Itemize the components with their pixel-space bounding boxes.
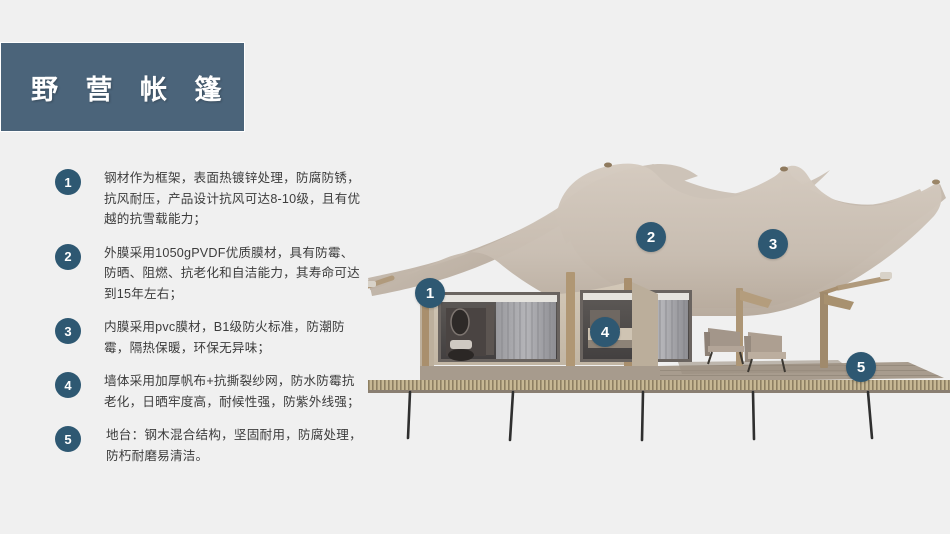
deck-fascia-shadow <box>368 390 950 393</box>
list-item: 1 钢材作为框架，表面热镀锌处理，防腐防锈，抗风耐压，产品设计抗风可达8-10级… <box>55 168 365 230</box>
feature-text-5: 地台：钢木混合结构，坚固耐用，防腐处理，防朽耐磨易清洁。 <box>104 425 364 466</box>
photo-badge-5[interactable]: 5 <box>846 352 876 382</box>
photo-badge-2[interactable]: 2 <box>636 222 666 252</box>
feature-badge-5: 5 <box>55 426 81 452</box>
deck-surface-front <box>420 366 660 382</box>
feature-list: 1 钢材作为框架，表面热镀锌处理，防腐防锈，抗风耐压，产品设计抗风可达8-10级… <box>55 168 365 479</box>
side-return-wall <box>632 282 658 368</box>
center-post <box>566 272 575 368</box>
post-brace-2 <box>824 294 854 310</box>
list-item: 2 外膜采用1050gPVDF优质膜材，具有防霉、防晒、阻燃、抗老化和自洁能力，… <box>55 243 365 305</box>
tent-illustration: 青湘营居 <box>368 150 950 450</box>
deck-stilts <box>408 392 872 440</box>
feature-text-2: 外膜采用1050gPVDF优质膜材，具有防霉、防晒、阻燃、抗老化和自洁能力，其寿… <box>104 243 362 305</box>
title-banner: 野 营 帐 篷 <box>0 42 245 132</box>
peak-tip-3 <box>932 180 940 185</box>
feature-badge-2: 2 <box>55 244 81 270</box>
feature-badge-1: 1 <box>55 169 81 195</box>
list-item: 5 地台：钢木混合结构，坚固耐用，防腐处理，防朽耐磨易清洁。 <box>55 425 365 466</box>
feature-text-1: 钢材作为框架，表面热镀锌处理，防腐防锈，抗风耐压，产品设计抗风可达8-10级，且… <box>104 168 362 230</box>
window-bathroom <box>438 292 560 362</box>
list-item: 4 墙体采用加厚帆布+抗撕裂纱网，防水防霉抗老化，日晒牢度高，耐候性强，防紫外线… <box>55 371 365 412</box>
photo-badge-4[interactable]: 4 <box>590 317 620 347</box>
photo-badge-3[interactable]: 3 <box>758 229 788 259</box>
slide-root: 野 营 帐 篷 1 钢材作为框架，表面热镀锌处理，防腐防锈，抗风耐压，产品设计抗… <box>0 0 950 534</box>
peak-tip-2 <box>780 167 788 172</box>
tent-graphic <box>368 150 950 450</box>
feature-text-4: 墙体采用加厚帆布+抗撕裂纱网，防水防霉抗老化，日晒牢度高，耐候性强，防紫外线强； <box>104 371 362 412</box>
peak-tip-1 <box>604 163 612 168</box>
feature-badge-4: 4 <box>55 372 81 398</box>
list-item: 3 内膜采用pvc膜材，B1级防火标准，防潮防霉，隔热保暖，环保无异味； <box>55 317 365 358</box>
page-title: 野 营 帐 篷 <box>31 68 232 107</box>
feature-text-3: 内膜采用pvc膜材，B1级防火标准，防潮防霉，隔热保暖，环保无异味； <box>104 317 362 358</box>
feature-badge-3: 3 <box>55 318 81 344</box>
photo-badge-1[interactable]: 1 <box>415 278 445 308</box>
